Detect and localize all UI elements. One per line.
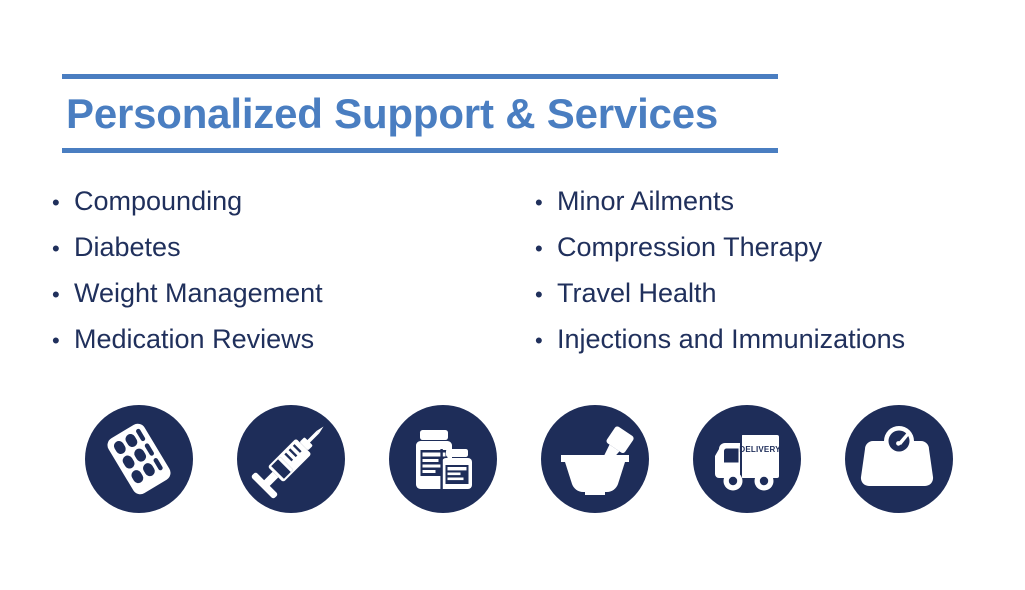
icon-badge-mortar-pestle [541,405,649,513]
service-label: Compression Therapy [557,224,822,270]
delivery-truck-icon: DELIVERY [693,405,801,513]
list-item: • Minor Ailments [535,178,1015,224]
bullet-icon: • [535,272,557,318]
service-label: Travel Health [557,270,717,316]
service-label: Compounding [74,178,242,224]
bullet-icon: • [535,226,557,272]
services-right-column: • Minor Ailments • Compression Therapy •… [535,178,1015,362]
bullet-icon: • [52,272,74,318]
service-label: Medication Reviews [74,316,314,362]
service-label: Weight Management [74,270,323,316]
list-item: • Medication Reviews [52,316,532,362]
services-left-column: • Compounding • Diabetes • Weight Manage… [52,178,532,362]
bullet-icon: • [52,180,74,226]
bullet-icon: • [535,318,557,364]
list-item: • Diabetes [52,224,532,270]
icon-badge-weight-scale [845,405,953,513]
slide-canvas: Personalized Support & Services • Compou… [0,0,1025,590]
icon-badge-pill-bottles [389,405,497,513]
services-lists: • Compounding • Diabetes • Weight Manage… [0,178,1025,362]
list-item: • Injections and Immunizations [535,316,1015,362]
icon-badge-blister-pack [85,405,193,513]
syringe-icon [237,405,345,513]
list-item: • Compression Therapy [535,224,1015,270]
service-label: Minor Ailments [557,178,734,224]
service-label: Injections and Immunizations [557,316,905,362]
pill-bottles-icon [389,405,497,513]
bullet-icon: • [52,318,74,364]
heading-block: Personalized Support & Services [62,74,778,153]
page-title: Personalized Support & Services [62,79,778,148]
list-item: • Weight Management [52,270,532,316]
weight-scale-icon [845,405,953,513]
truck-delivery-label: DELIVERY [739,445,781,454]
bullet-icon: • [52,226,74,272]
list-item: • Compounding [52,178,532,224]
icon-badge-syringe [237,405,345,513]
icon-badge-delivery-truck: DELIVERY [693,405,801,513]
service-label: Diabetes [74,224,181,270]
list-item: • Travel Health [535,270,1015,316]
bullet-icon: • [535,180,557,226]
icon-row: DELIVERY [85,405,955,515]
bottom-rule [62,148,778,153]
mortar-pestle-icon [541,405,649,513]
blister-pack-icon [85,405,193,513]
